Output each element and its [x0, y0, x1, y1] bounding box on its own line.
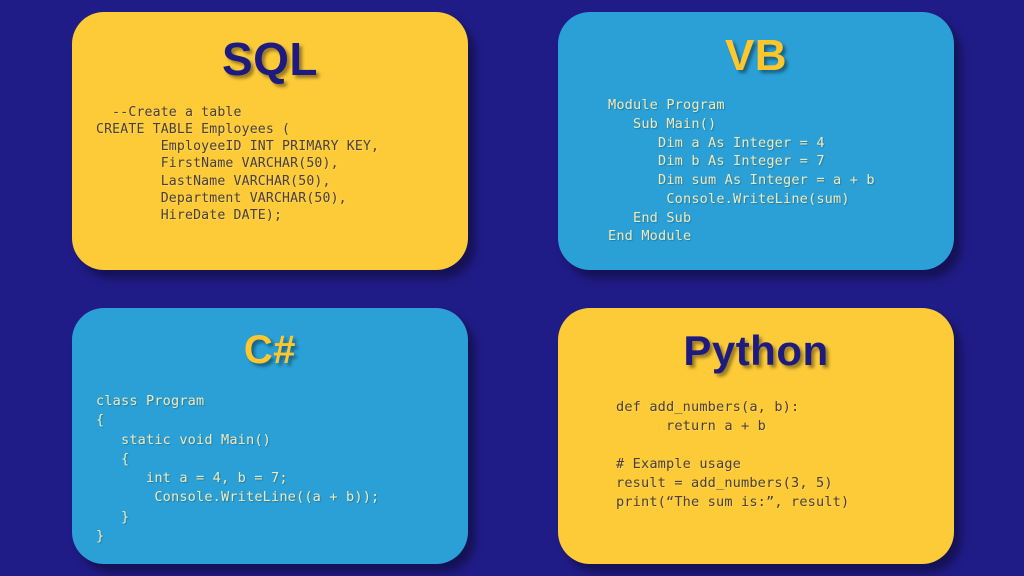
- card-title-sql: SQL: [72, 12, 468, 82]
- slide-canvas: SQL --Create a table CREATE TABLE Employ…: [0, 0, 1024, 576]
- code-card-csharp[interactable]: C# class Program { static void Main() { …: [72, 308, 468, 564]
- code-card-sql[interactable]: SQL --Create a table CREATE TABLE Employ…: [72, 12, 468, 270]
- card-title-python: Python: [558, 308, 954, 372]
- code-block-csharp: class Program { static void Main() { int…: [72, 370, 468, 546]
- code-block-sql: --Create a table CREATE TABLE Employees …: [72, 82, 468, 224]
- code-card-python[interactable]: Python def add_numbers(a, b): return a +…: [558, 308, 954, 564]
- code-block-python: def add_numbers(a, b): return a + b # Ex…: [558, 372, 954, 512]
- card-title-vb: VB: [558, 12, 954, 78]
- code-card-vb[interactable]: VB Module Program Sub Main() Dim a As In…: [558, 12, 954, 270]
- card-title-csharp: C#: [72, 308, 468, 370]
- code-block-vb: Module Program Sub Main() Dim a As Integ…: [558, 78, 954, 246]
